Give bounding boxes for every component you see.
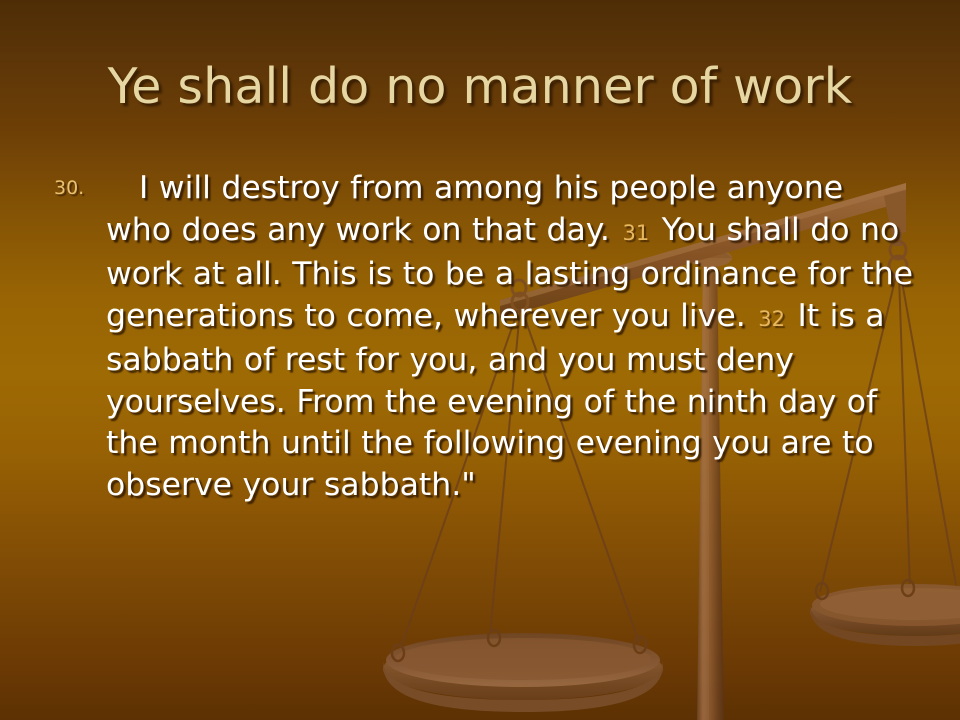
left-pan-hooks: [392, 630, 646, 661]
right-pan-hooks: [816, 580, 914, 599]
left-pan: [383, 633, 663, 712]
slide: Ye shall do no manner of work 30. I will…: [0, 0, 960, 720]
list-item-marker: 30.: [54, 168, 106, 198]
right-pan: [810, 584, 960, 646]
verse-number: 31: [620, 221, 651, 245]
scripture-paragraph: I will destroy from among his people any…: [106, 168, 916, 506]
verse-number: 32: [756, 307, 787, 331]
slide-title: Ye shall do no manner of work: [0, 58, 960, 116]
list-item: 30. I will destroy from among his people…: [54, 168, 916, 506]
body-text-block: 30. I will destroy from among his people…: [54, 168, 916, 506]
